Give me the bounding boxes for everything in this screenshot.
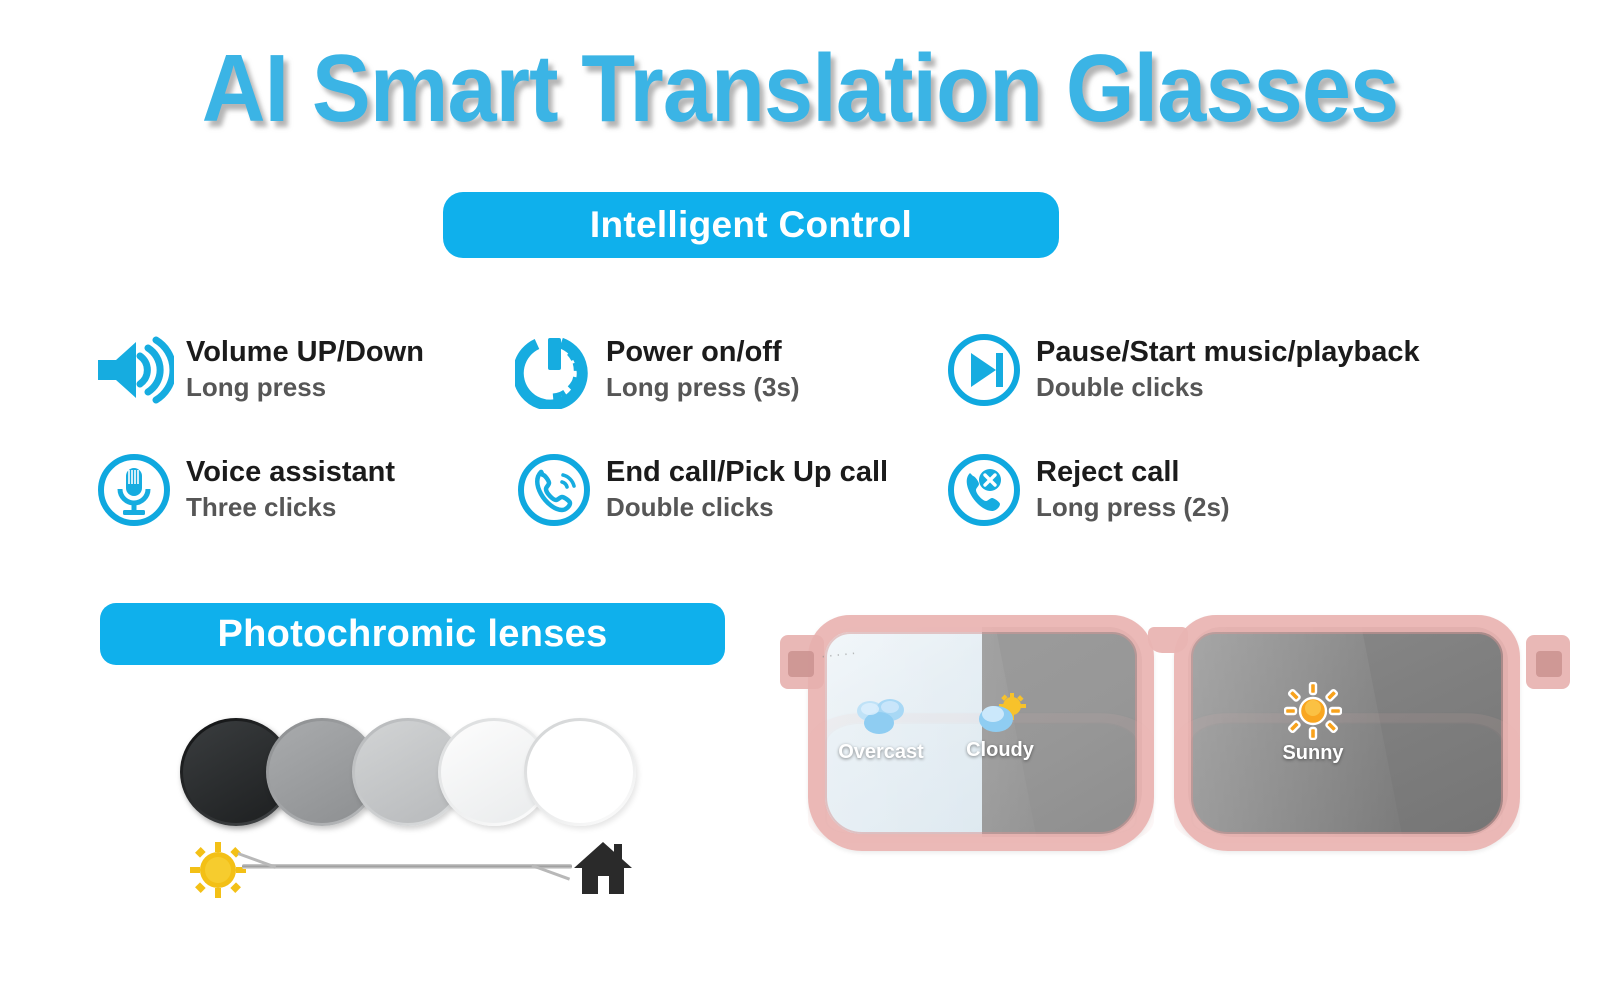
control-item-text: Power on/off Long press (3s) xyxy=(606,330,800,404)
control-item-title: Pause/Start music/playback xyxy=(1036,336,1420,368)
lens-disc-clear xyxy=(524,718,636,826)
phone-reject-icon xyxy=(942,448,1026,532)
cloudy-sun-icon xyxy=(971,693,1029,737)
control-item-text: Volume UP/Down Long press xyxy=(186,330,424,404)
overcast-clouds-icon xyxy=(850,695,912,739)
control-item-action: Long press (2s) xyxy=(1036,492,1230,523)
arrow-shaft xyxy=(242,864,572,869)
power-icon xyxy=(512,328,596,412)
sun-icon xyxy=(190,842,246,898)
control-row-2: Voice assistant Three clicks End call/Pi… xyxy=(92,450,1592,532)
control-item-volume[interactable]: Volume UP/Down Long press xyxy=(92,330,512,412)
photochromic-arrow-scale xyxy=(180,838,640,896)
control-item-end-call[interactable]: End call/Pick Up call Double clicks xyxy=(512,450,942,532)
section-badge-intelligent-control: Intelligent Control xyxy=(443,192,1059,258)
control-item-action: Three clicks xyxy=(186,492,395,523)
weather-label: Overcast xyxy=(826,741,936,764)
control-item-text: Voice assistant Three clicks xyxy=(186,450,395,524)
control-item-title: Voice assistant xyxy=(186,456,395,488)
control-item-reject-call[interactable]: Reject call Long press (2s) xyxy=(942,450,1502,532)
control-item-text: Reject call Long press (2s) xyxy=(1036,450,1230,524)
microphone-icon xyxy=(92,448,176,532)
lens-tint-progression xyxy=(180,718,640,828)
control-item-text: End call/Pick Up call Double clicks xyxy=(606,450,888,524)
control-item-title: Volume UP/Down xyxy=(186,336,424,368)
control-item-voice-assistant[interactable]: Voice assistant Three clicks xyxy=(92,450,512,532)
control-row-1: Volume UP/Down Long press xyxy=(92,330,1592,412)
frame-hinge-right xyxy=(1536,651,1562,677)
product-photo-glasses xyxy=(760,585,1600,1000)
weather-label: Sunny xyxy=(1253,742,1373,765)
control-item-power[interactable]: Power on/off Long press (3s) xyxy=(512,330,942,412)
next-track-icon xyxy=(942,328,1026,412)
page-title: AI Smart Translation Glasses xyxy=(64,34,1536,144)
phone-call-icon xyxy=(512,448,596,532)
house-icon xyxy=(572,838,634,896)
weather-state-overcast: Overcast xyxy=(826,695,936,764)
sunny-sun-icon xyxy=(1284,682,1342,740)
photo-surface-reflection xyxy=(780,787,1560,853)
weather-state-cloudy: Cloudy xyxy=(950,693,1050,762)
control-item-text: Pause/Start music/playback Double clicks xyxy=(1036,330,1420,404)
frame-hinge-left xyxy=(788,651,814,677)
control-item-title: End call/Pick Up call xyxy=(606,456,888,488)
control-item-title: Power on/off xyxy=(606,336,800,368)
speaker-volume-icon xyxy=(92,328,176,412)
control-item-title: Reject call xyxy=(1036,456,1230,488)
control-item-action: Long press (3s) xyxy=(606,372,800,403)
section-badge-label: Photochromic lenses xyxy=(217,613,607,656)
control-item-action: Double clicks xyxy=(606,492,888,523)
frame-bridge xyxy=(1148,627,1188,653)
control-item-action: Double clicks xyxy=(1036,372,1420,403)
weather-state-sunny: Sunny xyxy=(1253,682,1373,765)
section-badge-label: Intelligent Control xyxy=(590,204,912,246)
control-item-playback[interactable]: Pause/Start music/playback Double clicks xyxy=(942,330,1502,412)
weather-label: Cloudy xyxy=(950,739,1050,762)
section-badge-photochromic-lenses: Photochromic lenses xyxy=(100,603,725,665)
control-item-action: Long press xyxy=(186,372,424,403)
